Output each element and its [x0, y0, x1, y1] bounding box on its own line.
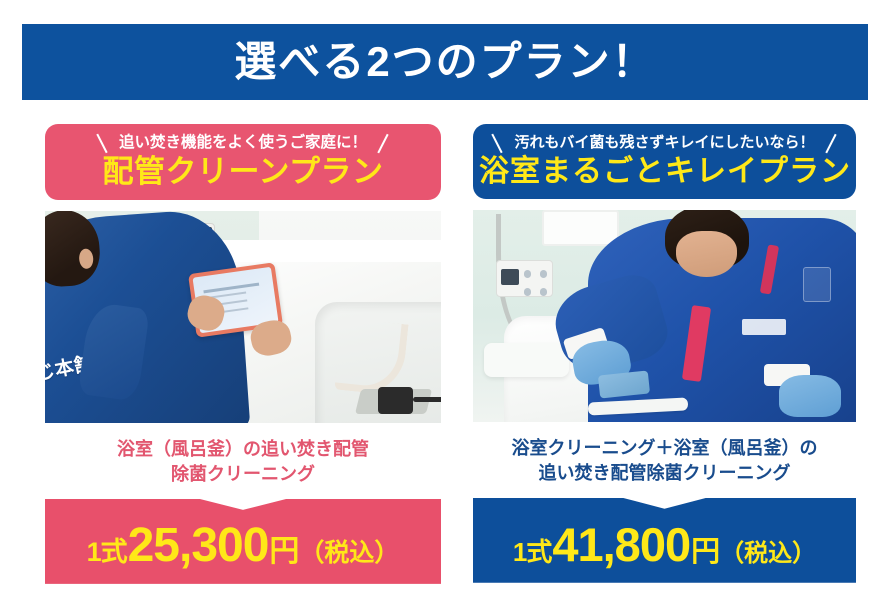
price-tax-note: （税込） [299, 533, 399, 569]
photo-uniform-logo [742, 319, 786, 334]
plan-card-bathroom-full-clean[interactable]: 汚れもバイ菌も残さずキレイにしたいなら！ 浴室まるごとキレイプラン [473, 124, 856, 583]
plan-photo-bathroom-full-clean [473, 210, 856, 422]
photo-control-panel [496, 260, 553, 296]
price-amount: 41,800 [552, 517, 690, 572]
plan-description-line-1: 浴室（風呂釜）の追い焚き配管 [45, 437, 441, 463]
plan-description-line-2: 追い焚き配管除菌クリーニング [473, 461, 856, 487]
photo-technician-arm [78, 301, 150, 402]
plan-description-piping-clean: 浴室（風呂釜）の追い焚き配管 除菌クリーニング [45, 437, 441, 488]
plan-badge-subtitle-row: 追い焚き機能をよく使うご家庭に！ [51, 133, 435, 153]
price-box-bathroom-full-clean: 1式 41,800 円 （税込） [473, 498, 856, 583]
price-amount: 25,300 [128, 518, 269, 573]
slash-right-icon [375, 133, 392, 153]
price-currency: 円 [269, 526, 299, 570]
price-tax-note: （税込） [720, 533, 816, 568]
plan-badge-subtitle-row: 汚れもバイ菌も残さずキレイにしたいなら！ [479, 133, 850, 153]
plan-subtitle: 追い焚き機能をよく使うご家庭に！ [119, 134, 367, 151]
plan-card-piping-clean[interactable]: 追い焚き機能をよく使うご家庭に！ 配管クリーンプラン うじ本舗。 [45, 124, 441, 584]
photo-uniform-stripe [682, 305, 712, 382]
plan-photo-piping-clean: うじ本舗。 [45, 211, 441, 423]
photo-uniform-stripe-shoulder [760, 244, 779, 294]
promo-page: 選べる2つのプラン！ 追い焚き機能をよく使うご家庭に！ 配管クリーンプラン [0, 0, 890, 616]
photo-bathtub-ledge [484, 343, 568, 377]
plan-subtitle: 汚れもバイ菌も残さずキレイにしたいなら！ [514, 135, 814, 152]
plan-title: 配管クリーンプラン [51, 155, 435, 190]
plan-badge-bathroom-full-clean: 汚れもバイ菌も残さずキレイにしたいなら！ 浴室まるごとキレイプラン [473, 124, 856, 199]
price-unit: 1式 [87, 530, 127, 569]
photo-window [542, 210, 619, 246]
plan-description-line-2: 除菌クリーニング [45, 462, 441, 488]
slash-left-icon [94, 133, 111, 153]
plan-description-line-1: 浴室クリーニング＋浴室（風呂釜）の [473, 436, 856, 462]
page-title: 選べる2つのプラン！ [234, 41, 655, 83]
price-text: 1式 25,300 円 （税込） [87, 518, 400, 573]
plan-badge-piping-clean: 追い焚き機能をよく使うご家庭に！ 配管クリーンプラン [45, 124, 441, 200]
photo-uniform-pocket [803, 267, 831, 302]
plan-description-bathroom-full-clean: 浴室クリーニング＋浴室（風呂釜）の 追い焚き配管除菌クリーニング [473, 436, 856, 487]
slash-left-icon [489, 133, 506, 153]
photo-cord [413, 397, 441, 402]
photo-technician-head [45, 211, 102, 289]
price-currency: 円 [691, 528, 720, 570]
photo-pump-plug [378, 387, 414, 415]
price-box-piping-clean: 1式 25,300 円 （税込） [45, 499, 441, 584]
slash-right-icon [823, 133, 840, 153]
header-banner: 選べる2つのプラン！ [22, 24, 868, 100]
price-unit: 1式 [513, 532, 551, 569]
price-text: 1式 41,800 円 （税込） [513, 517, 816, 572]
photo-glove-right [779, 375, 840, 417]
plan-title: 浴室まるごとキレイプラン [479, 155, 850, 189]
